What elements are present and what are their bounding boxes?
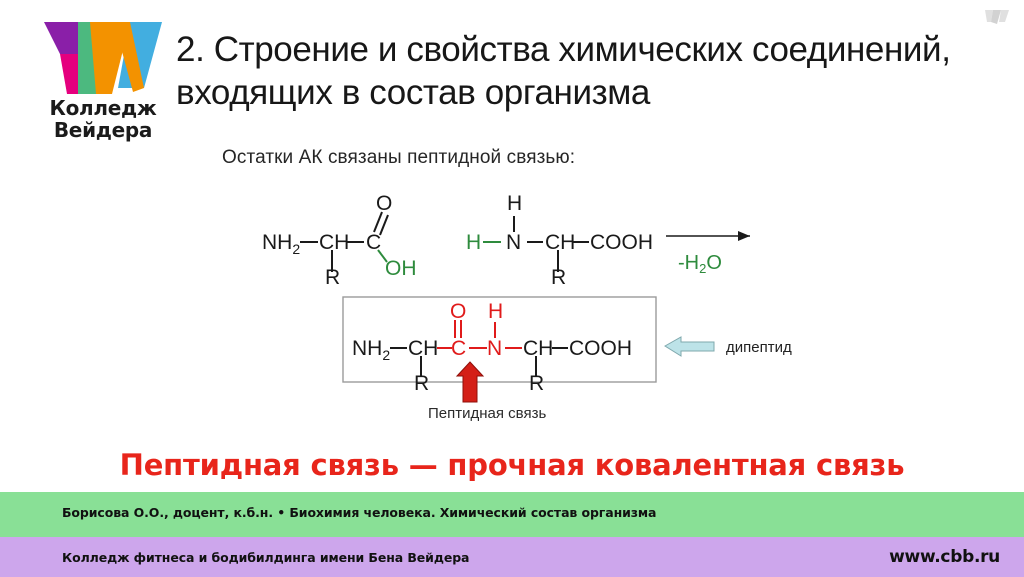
slide: Колледж Вейдера 2. Строение и свойства х…	[0, 0, 1024, 577]
label-r-right: R	[551, 266, 566, 289]
footer-green-band: Борисова О.О., доцент, к.б.н. • Биохимия…	[0, 492, 1024, 537]
callout-label: дипептид	[726, 339, 792, 356]
product-label-r-2: R	[529, 372, 544, 395]
product-label-n: N	[487, 337, 502, 360]
label-ch-left: CH	[319, 231, 349, 254]
footer-purple-band: Колледж фитнеса и бодибилдинга имени Бен…	[0, 537, 1024, 577]
label-h-on-n: H	[507, 192, 522, 215]
page-title: 2. Строение и свойства химических соедин…	[176, 28, 976, 115]
label-o-left: O	[376, 192, 392, 215]
label-c-left: C	[366, 231, 381, 254]
product-label-c: C	[451, 337, 466, 360]
footer-institution-line: Колледж фитнеса и бодибилдинга имени Бен…	[62, 550, 469, 565]
footer-author-line: Борисова О.О., доцент, к.б.н. • Биохимия…	[62, 505, 656, 520]
product-label-ch-1: CH	[408, 337, 438, 360]
reactant-right-structure: H N H CH R COOH	[466, 192, 653, 289]
label-r-left: R	[325, 266, 340, 289]
product-label-o: O	[450, 300, 466, 323]
label-water-loss: -H2O	[678, 252, 722, 276]
label-h-leaving: H	[466, 231, 481, 254]
dipeptide-callout: дипептид	[665, 337, 792, 356]
product-label-r-1: R	[414, 372, 429, 395]
product-label-cooh: COOH	[569, 337, 632, 360]
label-nh2: NH2	[262, 231, 300, 257]
product-label-ch-2: CH	[523, 337, 553, 360]
logo-line-2: Вейдера	[33, 120, 173, 142]
diagram-caption: Пептидная связь	[428, 405, 546, 422]
logo-wordmark: Колледж Вейдера	[33, 98, 173, 141]
subtitle: Остатки АК связаны пептидной связью:	[222, 147, 575, 169]
key-statement: Пептидная связь — прочная ковалентная св…	[0, 448, 1024, 482]
corner-watermark-icon	[982, 6, 1012, 28]
product-label-h: H	[488, 300, 503, 323]
reaction-arrow: -H2O	[666, 231, 750, 276]
logo-mark-icon	[38, 20, 168, 98]
logo-line-1: Колледж	[33, 98, 173, 120]
label-cooh-right: COOH	[590, 231, 653, 254]
college-logo: Колледж Вейдера	[33, 20, 173, 140]
reactant-left-structure: NH2 CH C O OH R	[262, 192, 417, 289]
footer-website-link[interactable]: www.cbb.ru	[889, 547, 1000, 567]
reaction-diagram: NH2 CH C O OH R H N	[0, 180, 1024, 440]
label-ch-right: CH	[545, 231, 575, 254]
label-oh-left: OH	[385, 257, 417, 280]
label-n-right: N	[506, 231, 521, 254]
